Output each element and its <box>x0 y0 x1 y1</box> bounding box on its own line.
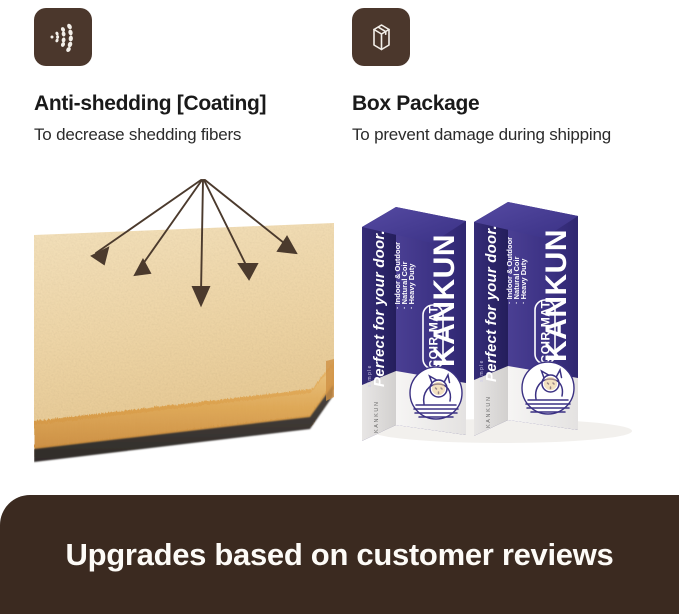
coir-mat-photo <box>34 175 334 465</box>
product-box-right <box>474 202 578 436</box>
feature-column-anti-shedding: Anti-shedding [Coating] To decrease shed… <box>34 0 334 145</box>
product-feature-infographic: Anti-shedding [Coating] To decrease shed… <box>0 0 679 614</box>
bottom-banner: Upgrades based on customer reviews <box>0 495 679 614</box>
feature-subtitle: To decrease shedding fibers <box>34 125 334 145</box>
product-box-left <box>362 207 466 441</box>
product-boxes-photo: KANKUN COIR MAT · Heavy Duty · Natural C… <box>352 175 652 465</box>
feature-column-box-package: Box Package To prevent damage during shi… <box>352 0 672 145</box>
feature-subtitle: To prevent damage during shipping <box>352 125 672 145</box>
box-package-icon <box>352 8 410 66</box>
banner-headline: Upgrades based on customer reviews <box>66 537 614 573</box>
feature-title: Box Package <box>352 92 672 116</box>
feature-title: Anti-shedding [Coating] <box>34 92 334 116</box>
spray-coating-icon <box>34 8 92 66</box>
